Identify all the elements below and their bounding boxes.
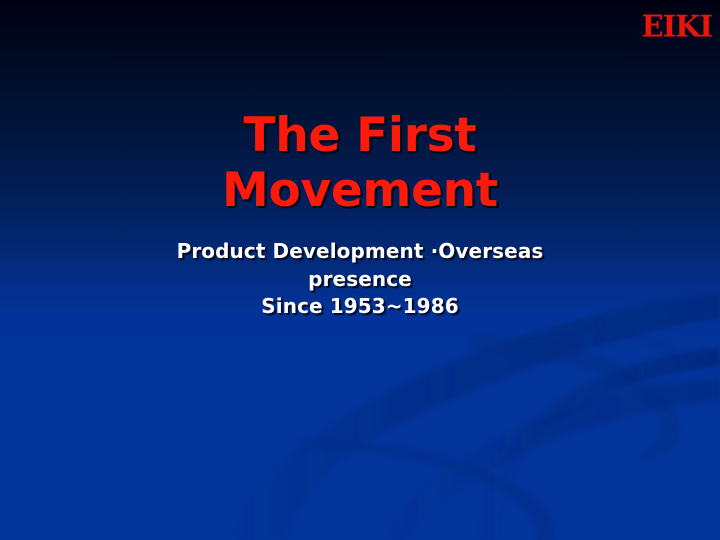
slide-title-line-1: The First bbox=[0, 108, 720, 163]
swoosh-group bbox=[228, 292, 720, 540]
slide-subtitle: Product Development ·Overseas presence S… bbox=[0, 238, 720, 321]
slide-title-line-2: Movement bbox=[0, 163, 720, 218]
swoosh-band-outer bbox=[380, 378, 720, 540]
eiki-logo: Eiki bbox=[642, 1, 712, 44]
swoosh-band-inner bbox=[474, 348, 720, 540]
slide-subtitle-line-3: Since 1953~1986 bbox=[0, 293, 720, 321]
swoosh-hook-upper bbox=[470, 334, 679, 457]
swoosh-band-lower bbox=[228, 292, 720, 540]
swoosh-arc-top bbox=[556, 326, 679, 368]
slide-subtitle-line-1: Product Development ·Overseas bbox=[0, 238, 720, 266]
slide-subtitle-line-2: presence bbox=[0, 266, 720, 294]
presentation-slide: Eiki The First Movement Product Developm… bbox=[0, 0, 720, 540]
slide-title: The First Movement bbox=[0, 108, 720, 219]
swoosh-hook-lower bbox=[300, 440, 554, 540]
